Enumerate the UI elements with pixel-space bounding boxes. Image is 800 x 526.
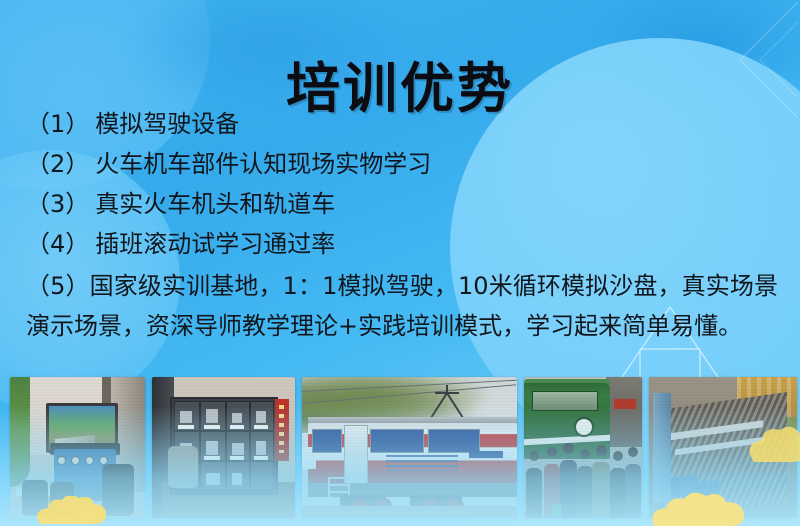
photo-red-locomotive [302,377,517,518]
list-item-paragraph: （5）国家级实训基地，1：1模拟驾驶，10米循环模拟沙盘，真实场景演示场景，资深… [26,266,778,346]
photo-green-locomotive [524,377,642,518]
photo-simulator-room [10,377,145,518]
photo-model-sandtable [649,377,797,518]
list-item: （2）火车机车部件认知现场实物学习 [26,144,778,184]
list-item-number: （2） [26,150,89,178]
slide-canvas: 培训优势 （1）模拟驾驶设备 （2）火车机车部件认知现场实物学习 （3）真实火车… [0,0,800,526]
list-item: （4）插班滚动试学习通过率 [26,224,778,264]
list-item-number: （1） [26,110,89,138]
photo-parts-display [152,377,295,518]
list-item-number: （4） [26,230,89,258]
list-item-label: 火车机车部件认知现场实物学习 [95,150,431,178]
list-item: （3）真实火车机头和轨道车 [26,184,778,224]
list-item-label: 模拟驾驶设备 [95,110,239,138]
list-item-label: 真实火车机头和轨道车 [95,190,335,218]
training-advantages-list: （1）模拟驾驶设备 （2）火车机车部件认知现场实物学习 （3）真实火车机头和轨道… [26,104,778,346]
list-item-label: 插班滚动试学习通过率 [95,230,335,258]
list-item-number: （3） [26,190,89,218]
photo-strip [10,377,790,518]
list-item: （1）模拟驾驶设备 [26,104,778,144]
